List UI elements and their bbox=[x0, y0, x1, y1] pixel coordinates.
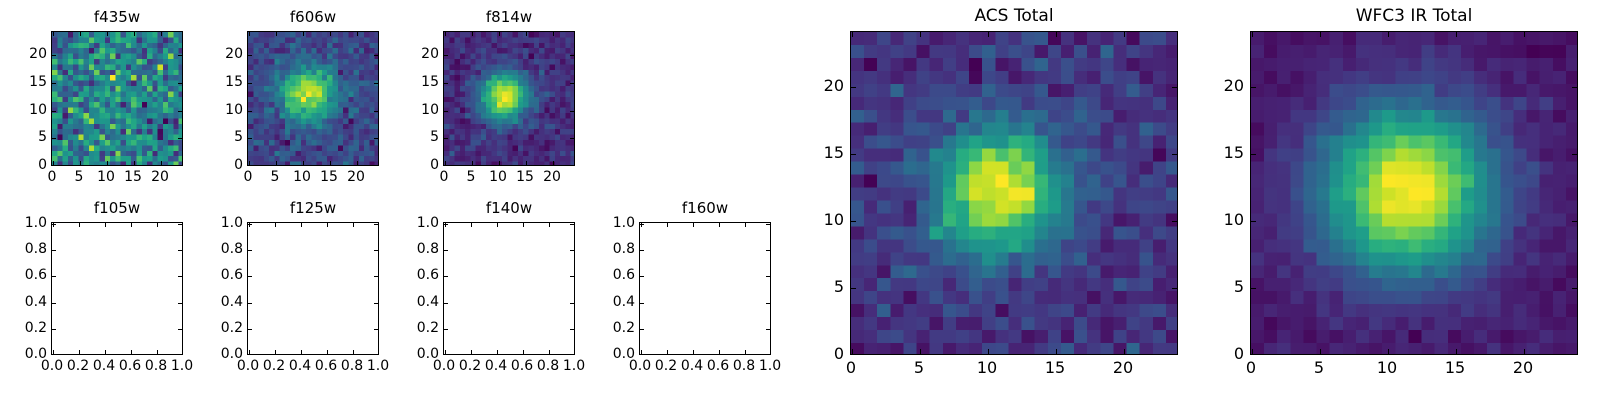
y-tick-right-f125w-5 bbox=[374, 224, 378, 225]
x-ticklabel-f105w-3: 0.6 bbox=[90, 359, 170, 373]
y-tick-f105w-2 bbox=[52, 303, 56, 304]
y-tick-right-f140w-1 bbox=[570, 329, 574, 330]
heatmap-f814w bbox=[444, 32, 575, 166]
x-ticklabel-f105w-2: 0.4 bbox=[64, 359, 144, 373]
x-tick-top-acs-total-1 bbox=[920, 32, 921, 37]
x-tick-f105w-2 bbox=[105, 350, 106, 354]
y-ticklabel-acs-total-0: 0 bbox=[744, 346, 844, 362]
panel-f814w: f814w0510152005101520 bbox=[0, 0, 1600, 400]
y-tick-right-f435w-3 bbox=[178, 83, 182, 84]
x-tick-top-f125w-1 bbox=[275, 223, 276, 227]
y-tick-f606w-4 bbox=[248, 55, 252, 56]
y-ticklabel-f140w-3: 0.6 bbox=[339, 268, 439, 282]
x-ticklabel-f160w-0: 0.0 bbox=[600, 359, 680, 373]
y-tick-right-f160w-1 bbox=[766, 329, 770, 330]
x-tick-top-f606w-2 bbox=[303, 32, 304, 36]
x-ticklabel-f160w-3: 0.6 bbox=[678, 359, 758, 373]
x-tick-f125w-3 bbox=[327, 350, 328, 354]
y-ticklabel-f125w-4: 0.8 bbox=[143, 242, 243, 256]
y-tick-right-f125w-1 bbox=[374, 329, 378, 330]
y-tick-right-wfc3-ir-total-1 bbox=[1572, 288, 1577, 289]
x-tick-f814w-4 bbox=[553, 161, 554, 165]
x-ticklabel-f435w-3: 15 bbox=[93, 170, 173, 184]
x-tick-f125w-0 bbox=[249, 350, 250, 354]
y-ticklabel-f140w-2: 0.4 bbox=[339, 295, 439, 309]
y-tick-right-f606w-4 bbox=[374, 55, 378, 56]
y-ticklabel-f140w-5: 1.0 bbox=[339, 216, 439, 230]
x-tick-top-f125w-4 bbox=[353, 223, 354, 227]
x-tick-acs-total-4 bbox=[1124, 349, 1125, 354]
y-ticklabel-f140w-0: 0.0 bbox=[339, 347, 439, 361]
x-ticklabel-wfc3-ir-total-4: 20 bbox=[1483, 360, 1563, 376]
x-tick-f814w-1 bbox=[472, 161, 473, 165]
y-tick-right-f814w-4 bbox=[570, 55, 574, 56]
x-tick-top-f160w-4 bbox=[745, 223, 746, 227]
y-tick-f140w-1 bbox=[444, 329, 448, 330]
y-ticklabel-f814w-1: 5 bbox=[339, 130, 439, 144]
y-tick-right-f105w-3 bbox=[178, 276, 182, 277]
y-ticklabel-wfc3-ir-total-0: 0 bbox=[1144, 346, 1244, 362]
x-ticklabel-f435w-1: 5 bbox=[39, 170, 119, 184]
y-ticklabel-f606w-3: 15 bbox=[143, 75, 243, 89]
x-ticklabel-acs-total-4: 20 bbox=[1083, 360, 1163, 376]
panel-f105w: f105w0.00.20.40.60.81.00.00.20.40.60.81.… bbox=[0, 0, 1600, 400]
x-tick-f105w-0 bbox=[53, 350, 54, 354]
x-ticklabel-f125w-1: 0.2 bbox=[234, 359, 314, 373]
y-ticklabel-f160w-0: 0.0 bbox=[535, 347, 635, 361]
panel-f435w: f435w0510152005101520 bbox=[0, 0, 1600, 400]
x-ticklabel-wfc3-ir-total-0: 0 bbox=[1211, 360, 1291, 376]
y-tick-f125w-3 bbox=[248, 276, 252, 277]
x-tick-f606w-2 bbox=[303, 161, 304, 165]
x-tick-top-f814w-1 bbox=[472, 32, 473, 36]
y-tick-f435w-3 bbox=[52, 83, 56, 84]
y-ticklabel-f160w-4: 0.8 bbox=[535, 242, 635, 256]
x-tick-top-wfc3-ir-total-3 bbox=[1456, 32, 1457, 37]
y-ticklabel-f125w-5: 1.0 bbox=[143, 216, 243, 230]
y-ticklabel-f160w-2: 0.4 bbox=[535, 295, 635, 309]
y-ticklabel-f160w-5: 1.0 bbox=[535, 216, 635, 230]
y-ticklabel-f105w-5: 1.0 bbox=[0, 216, 47, 230]
x-tick-top-f105w-1 bbox=[79, 223, 80, 227]
y-tick-f814w-4 bbox=[444, 55, 448, 56]
x-tick-top-f435w-4 bbox=[161, 32, 162, 36]
panel-f160w: f160w0.00.20.40.60.81.00.00.20.40.60.81.… bbox=[0, 0, 1600, 400]
y-tick-right-f125w-4 bbox=[374, 250, 378, 251]
y-ticklabel-f105w-4: 0.8 bbox=[0, 242, 47, 256]
y-tick-right-f140w-4 bbox=[570, 250, 574, 251]
x-tick-top-f606w-0 bbox=[249, 32, 250, 36]
y-tick-right-f105w-1 bbox=[178, 329, 182, 330]
axes-f606w bbox=[247, 31, 379, 166]
panel-title-f435w: f435w bbox=[51, 8, 183, 26]
y-ticklabel-f160w-3: 0.6 bbox=[535, 268, 635, 282]
x-tick-top-f814w-4 bbox=[553, 32, 554, 36]
y-tick-f606w-3 bbox=[248, 83, 252, 84]
y-tick-right-acs-total-1 bbox=[1172, 288, 1177, 289]
x-ticklabel-wfc3-ir-total-2: 10 bbox=[1347, 360, 1427, 376]
x-tick-top-wfc3-ir-total-4 bbox=[1524, 32, 1525, 37]
y-ticklabel-f606w-4: 20 bbox=[143, 47, 243, 61]
x-tick-f125w-1 bbox=[275, 350, 276, 354]
y-tick-f105w-5 bbox=[52, 224, 56, 225]
y-ticklabel-f814w-0: 0 bbox=[339, 158, 439, 172]
y-ticklabel-f606w-1: 5 bbox=[143, 130, 243, 144]
y-tick-right-f125w-2 bbox=[374, 303, 378, 304]
y-tick-f105w-4 bbox=[52, 250, 56, 251]
x-tick-top-wfc3-ir-total-2 bbox=[1388, 32, 1389, 37]
y-tick-right-f160w-5 bbox=[766, 224, 770, 225]
y-ticklabel-f606w-0: 0 bbox=[143, 158, 243, 172]
y-ticklabel-f105w-0: 0.0 bbox=[0, 347, 47, 361]
panel-title-f606w: f606w bbox=[247, 8, 379, 26]
x-tick-top-f140w-0 bbox=[445, 223, 446, 227]
x-tick-f814w-2 bbox=[499, 161, 500, 165]
x-tick-top-f814w-0 bbox=[445, 32, 446, 36]
x-tick-top-acs-total-3 bbox=[1056, 32, 1057, 37]
y-tick-f160w-1 bbox=[640, 329, 644, 330]
panel-wfc3-ir-total: WFC3 IR Total0510152005101520 bbox=[0, 0, 1600, 400]
y-tick-f435w-4 bbox=[52, 55, 56, 56]
x-ticklabel-f606w-2: 10 bbox=[262, 170, 342, 184]
x-ticklabel-f606w-0: 0 bbox=[208, 170, 288, 184]
y-tick-acs-total-3 bbox=[851, 154, 856, 155]
x-ticklabel-acs-total-3: 15 bbox=[1015, 360, 1095, 376]
x-tick-top-f105w-3 bbox=[131, 223, 132, 227]
heatmap-f606w bbox=[248, 32, 379, 166]
x-ticklabel-f140w-4: 0.8 bbox=[508, 359, 588, 373]
y-ticklabel-wfc3-ir-total-1: 5 bbox=[1144, 279, 1244, 295]
y-tick-acs-total-2 bbox=[851, 221, 856, 222]
x-ticklabel-f814w-0: 0 bbox=[404, 170, 484, 184]
x-ticklabel-f814w-4: 20 bbox=[512, 170, 592, 184]
x-tick-f105w-4 bbox=[157, 350, 158, 354]
axes-f105w bbox=[51, 222, 183, 355]
x-ticklabel-f435w-2: 10 bbox=[66, 170, 146, 184]
y-ticklabel-f435w-3: 15 bbox=[0, 75, 47, 89]
x-ticklabel-f160w-2: 0.4 bbox=[652, 359, 732, 373]
y-ticklabel-f435w-2: 10 bbox=[0, 103, 47, 117]
x-ticklabel-f435w-0: 0 bbox=[12, 170, 92, 184]
x-ticklabel-f105w-5: 1.0 bbox=[142, 359, 222, 373]
y-tick-wfc3-ir-total-4 bbox=[1251, 87, 1256, 88]
x-ticklabel-f140w-0: 0.0 bbox=[404, 359, 484, 373]
y-ticklabel-f160w-1: 0.2 bbox=[535, 321, 635, 335]
x-tick-top-f160w-0 bbox=[641, 223, 642, 227]
axes-acs-total bbox=[850, 31, 1178, 355]
panel-title-f105w: f105w bbox=[51, 199, 183, 217]
x-tick-f125w-2 bbox=[301, 350, 302, 354]
heatmap-wfc3-ir-total bbox=[1251, 32, 1578, 355]
y-ticklabel-f140w-4: 0.8 bbox=[339, 242, 439, 256]
y-ticklabel-f435w-4: 20 bbox=[0, 47, 47, 61]
y-ticklabel-f125w-0: 0.0 bbox=[143, 347, 243, 361]
x-ticklabel-f140w-5: 1.0 bbox=[534, 359, 614, 373]
y-tick-right-f814w-2 bbox=[570, 111, 574, 112]
y-tick-f140w-4 bbox=[444, 250, 448, 251]
x-tick-f606w-4 bbox=[357, 161, 358, 165]
axes-f160w bbox=[639, 222, 771, 355]
y-ticklabel-acs-total-3: 15 bbox=[744, 145, 844, 161]
x-ticklabel-f606w-1: 5 bbox=[235, 170, 315, 184]
x-tick-acs-total-3 bbox=[1056, 349, 1057, 354]
x-ticklabel-f160w-5: 1.0 bbox=[730, 359, 810, 373]
x-tick-f140w-1 bbox=[471, 350, 472, 354]
panel-f140w: f140w0.00.20.40.60.81.00.00.20.40.60.81.… bbox=[0, 0, 1600, 400]
panel-f125w: f125w0.00.20.40.60.81.00.00.20.40.60.81.… bbox=[0, 0, 1600, 400]
x-tick-f160w-1 bbox=[667, 350, 668, 354]
y-tick-right-f105w-4 bbox=[178, 250, 182, 251]
y-tick-f125w-4 bbox=[248, 250, 252, 251]
x-tick-top-acs-total-0 bbox=[852, 32, 853, 37]
axes-f140w bbox=[443, 222, 575, 355]
y-tick-f105w-3 bbox=[52, 276, 56, 277]
y-tick-right-f105w-5 bbox=[178, 224, 182, 225]
x-tick-top-f606w-4 bbox=[357, 32, 358, 36]
y-tick-right-acs-total-4 bbox=[1172, 87, 1177, 88]
x-tick-wfc3-ir-total-4 bbox=[1524, 349, 1525, 354]
x-tick-top-f814w-2 bbox=[499, 32, 500, 36]
axes-wfc3-ir-total bbox=[1250, 31, 1578, 355]
y-ticklabel-f140w-1: 0.2 bbox=[339, 321, 439, 335]
y-tick-right-f814w-1 bbox=[570, 138, 574, 139]
x-ticklabel-acs-total-2: 10 bbox=[947, 360, 1027, 376]
y-tick-right-f160w-2 bbox=[766, 303, 770, 304]
y-ticklabel-f125w-3: 0.6 bbox=[143, 268, 243, 282]
panel-title-f125w: f125w bbox=[247, 199, 379, 217]
x-ticklabel-f814w-3: 15 bbox=[485, 170, 565, 184]
y-tick-right-f606w-1 bbox=[374, 138, 378, 139]
y-tick-f140w-5 bbox=[444, 224, 448, 225]
x-tick-f435w-3 bbox=[134, 161, 135, 165]
y-tick-f606w-2 bbox=[248, 111, 252, 112]
x-tick-acs-total-1 bbox=[920, 349, 921, 354]
x-tick-top-f814w-3 bbox=[526, 32, 527, 36]
x-ticklabel-f140w-2: 0.4 bbox=[456, 359, 536, 373]
y-tick-right-f606w-2 bbox=[374, 111, 378, 112]
x-tick-f606w-0 bbox=[249, 161, 250, 165]
y-ticklabel-f606w-2: 10 bbox=[143, 103, 243, 117]
y-ticklabel-f125w-1: 0.2 bbox=[143, 321, 243, 335]
y-ticklabel-f105w-1: 0.2 bbox=[0, 321, 47, 335]
y-tick-f435w-1 bbox=[52, 138, 56, 139]
heatmap-acs-total bbox=[851, 32, 1178, 355]
axes-f125w bbox=[247, 222, 379, 355]
panel-f606w: f606w0510152005101520 bbox=[0, 0, 1600, 400]
y-tick-right-f140w-3 bbox=[570, 276, 574, 277]
x-tick-f606w-3 bbox=[330, 161, 331, 165]
y-tick-acs-total-4 bbox=[851, 87, 856, 88]
x-ticklabel-f814w-1: 5 bbox=[431, 170, 511, 184]
x-tick-f105w-3 bbox=[131, 350, 132, 354]
y-ticklabel-acs-total-4: 20 bbox=[744, 78, 844, 94]
panel-title-f814w: f814w bbox=[443, 8, 575, 26]
y-tick-wfc3-ir-total-2 bbox=[1251, 221, 1256, 222]
x-tick-top-f435w-3 bbox=[134, 32, 135, 36]
x-tick-top-f105w-0 bbox=[53, 223, 54, 227]
x-ticklabel-f160w-1: 0.2 bbox=[626, 359, 706, 373]
panel-title-acs-total: ACS Total bbox=[850, 6, 1178, 26]
x-ticklabel-wfc3-ir-total-1: 5 bbox=[1279, 360, 1359, 376]
y-tick-f125w-1 bbox=[248, 329, 252, 330]
x-tick-top-f160w-2 bbox=[693, 223, 694, 227]
x-tick-acs-total-2 bbox=[988, 349, 989, 354]
x-ticklabel-f606w-4: 20 bbox=[316, 170, 396, 184]
x-tick-f160w-2 bbox=[693, 350, 694, 354]
y-tick-right-acs-total-3 bbox=[1172, 154, 1177, 155]
x-tick-top-f105w-4 bbox=[157, 223, 158, 227]
x-tick-wfc3-ir-total-2 bbox=[1388, 349, 1389, 354]
x-ticklabel-f125w-5: 1.0 bbox=[338, 359, 418, 373]
y-tick-f140w-3 bbox=[444, 276, 448, 277]
x-tick-f606w-1 bbox=[276, 161, 277, 165]
x-tick-f140w-3 bbox=[523, 350, 524, 354]
x-tick-f814w-3 bbox=[526, 161, 527, 165]
y-tick-right-wfc3-ir-total-4 bbox=[1572, 87, 1577, 88]
x-tick-top-f125w-0 bbox=[249, 223, 250, 227]
x-tick-wfc3-ir-total-1 bbox=[1320, 349, 1321, 354]
x-tick-top-wfc3-ir-total-0 bbox=[1252, 32, 1253, 37]
x-tick-top-f606w-3 bbox=[330, 32, 331, 36]
y-tick-acs-total-1 bbox=[851, 288, 856, 289]
x-tick-top-acs-total-4 bbox=[1124, 32, 1125, 37]
y-tick-right-f435w-4 bbox=[178, 55, 182, 56]
x-tick-f160w-0 bbox=[641, 350, 642, 354]
x-tick-top-f125w-3 bbox=[327, 223, 328, 227]
axes-f814w bbox=[443, 31, 575, 166]
x-ticklabel-f105w-1: 0.2 bbox=[38, 359, 118, 373]
x-ticklabel-f125w-2: 0.4 bbox=[260, 359, 340, 373]
x-tick-f435w-4 bbox=[161, 161, 162, 165]
x-tick-top-acs-total-2 bbox=[988, 32, 989, 37]
y-ticklabel-f435w-1: 5 bbox=[0, 130, 47, 144]
x-ticklabel-f814w-2: 10 bbox=[458, 170, 538, 184]
x-tick-top-f140w-1 bbox=[471, 223, 472, 227]
y-tick-f140w-2 bbox=[444, 303, 448, 304]
y-tick-right-f105w-2 bbox=[178, 303, 182, 304]
x-tick-wfc3-ir-total-0 bbox=[1252, 349, 1253, 354]
x-tick-f105w-1 bbox=[79, 350, 80, 354]
y-ticklabel-f105w-2: 0.4 bbox=[0, 295, 47, 309]
x-tick-top-f125w-2 bbox=[301, 223, 302, 227]
x-tick-wfc3-ir-total-3 bbox=[1456, 349, 1457, 354]
figure-canvas: f435w0510152005101520f606w05101520051015… bbox=[0, 0, 1600, 400]
y-tick-right-f125w-3 bbox=[374, 276, 378, 277]
x-tick-f160w-4 bbox=[745, 350, 746, 354]
y-ticklabel-f125w-2: 0.4 bbox=[143, 295, 243, 309]
y-ticklabel-f435w-0: 0 bbox=[0, 158, 47, 172]
y-tick-right-wfc3-ir-total-2 bbox=[1572, 221, 1577, 222]
y-tick-f160w-3 bbox=[640, 276, 644, 277]
x-tick-top-f435w-0 bbox=[53, 32, 54, 36]
y-tick-right-f140w-5 bbox=[570, 224, 574, 225]
y-tick-f814w-2 bbox=[444, 111, 448, 112]
x-ticklabel-f435w-4: 20 bbox=[120, 170, 200, 184]
y-tick-f814w-3 bbox=[444, 83, 448, 84]
axes-f435w bbox=[51, 31, 183, 166]
y-ticklabel-f814w-3: 15 bbox=[339, 75, 439, 89]
panel-acs-total: ACS Total0510152005101520 bbox=[0, 0, 1600, 400]
x-tick-f125w-4 bbox=[353, 350, 354, 354]
x-ticklabel-acs-total-0: 0 bbox=[811, 360, 891, 376]
x-ticklabel-acs-total-1: 5 bbox=[879, 360, 959, 376]
x-ticklabel-f125w-3: 0.6 bbox=[286, 359, 366, 373]
y-tick-f125w-2 bbox=[248, 303, 252, 304]
heatmap-f435w bbox=[52, 32, 183, 166]
x-ticklabel-f125w-0: 0.0 bbox=[208, 359, 288, 373]
x-ticklabel-f105w-4: 0.8 bbox=[116, 359, 196, 373]
x-tick-f140w-4 bbox=[549, 350, 550, 354]
y-tick-right-f435w-2 bbox=[178, 111, 182, 112]
panel-title-f140w: f140w bbox=[443, 199, 575, 217]
y-ticklabel-wfc3-ir-total-4: 20 bbox=[1144, 78, 1244, 94]
y-tick-f160w-4 bbox=[640, 250, 644, 251]
y-tick-wfc3-ir-total-3 bbox=[1251, 154, 1256, 155]
x-tick-f814w-0 bbox=[445, 161, 446, 165]
y-tick-right-f435w-1 bbox=[178, 138, 182, 139]
y-tick-right-acs-total-2 bbox=[1172, 221, 1177, 222]
y-tick-f160w-2 bbox=[640, 303, 644, 304]
x-tick-f160w-3 bbox=[719, 350, 720, 354]
x-tick-f140w-0 bbox=[445, 350, 446, 354]
y-tick-right-f140w-2 bbox=[570, 303, 574, 304]
x-tick-top-f435w-1 bbox=[80, 32, 81, 36]
y-tick-f160w-5 bbox=[640, 224, 644, 225]
x-tick-f435w-0 bbox=[53, 161, 54, 165]
y-tick-right-f160w-4 bbox=[766, 250, 770, 251]
x-ticklabel-f140w-3: 0.6 bbox=[482, 359, 562, 373]
y-ticklabel-wfc3-ir-total-2: 10 bbox=[1144, 212, 1244, 228]
y-tick-right-f160w-3 bbox=[766, 276, 770, 277]
x-tick-top-f140w-4 bbox=[549, 223, 550, 227]
y-tick-right-f606w-3 bbox=[374, 83, 378, 84]
x-tick-f435w-2 bbox=[107, 161, 108, 165]
y-tick-right-wfc3-ir-total-3 bbox=[1572, 154, 1577, 155]
y-ticklabel-acs-total-1: 5 bbox=[744, 279, 844, 295]
x-ticklabel-f160w-4: 0.8 bbox=[704, 359, 784, 373]
x-ticklabel-f140w-1: 0.2 bbox=[430, 359, 510, 373]
x-ticklabel-f606w-3: 15 bbox=[289, 170, 369, 184]
x-tick-top-f435w-2 bbox=[107, 32, 108, 36]
x-ticklabel-f105w-0: 0.0 bbox=[12, 359, 92, 373]
panel-title-wfc3-ir-total: WFC3 IR Total bbox=[1250, 6, 1578, 26]
y-tick-f105w-1 bbox=[52, 329, 56, 330]
x-tick-acs-total-0 bbox=[852, 349, 853, 354]
x-tick-top-f160w-1 bbox=[667, 223, 668, 227]
x-ticklabel-wfc3-ir-total-3: 15 bbox=[1415, 360, 1495, 376]
y-ticklabel-f814w-2: 10 bbox=[339, 103, 439, 117]
x-tick-f435w-1 bbox=[80, 161, 81, 165]
x-tick-top-wfc3-ir-total-1 bbox=[1320, 32, 1321, 37]
y-tick-f814w-1 bbox=[444, 138, 448, 139]
y-tick-right-f814w-3 bbox=[570, 83, 574, 84]
x-ticklabel-f125w-4: 0.8 bbox=[312, 359, 392, 373]
y-ticklabel-f814w-4: 20 bbox=[339, 47, 439, 61]
y-ticklabel-f105w-3: 0.6 bbox=[0, 268, 47, 282]
x-tick-top-f160w-3 bbox=[719, 223, 720, 227]
y-tick-wfc3-ir-total-1 bbox=[1251, 288, 1256, 289]
x-tick-top-f140w-3 bbox=[523, 223, 524, 227]
panel-title-f160w: f160w bbox=[639, 199, 771, 217]
y-tick-f435w-2 bbox=[52, 111, 56, 112]
x-tick-top-f105w-2 bbox=[105, 223, 106, 227]
y-tick-f125w-5 bbox=[248, 224, 252, 225]
x-tick-f140w-2 bbox=[497, 350, 498, 354]
y-tick-f606w-1 bbox=[248, 138, 252, 139]
y-ticklabel-wfc3-ir-total-3: 15 bbox=[1144, 145, 1244, 161]
x-tick-top-f140w-2 bbox=[497, 223, 498, 227]
x-tick-top-f606w-1 bbox=[276, 32, 277, 36]
